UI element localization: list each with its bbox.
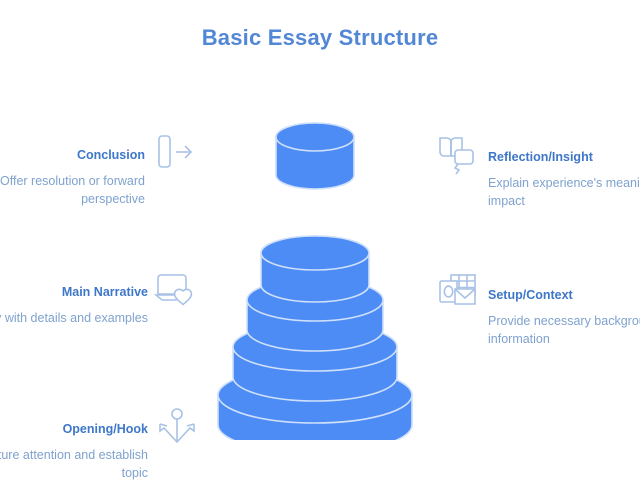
item-heading: Opening/Hook	[0, 422, 148, 437]
item-heading: Setup/Context	[488, 288, 640, 303]
item-heading: Reflection/Insight	[488, 150, 640, 165]
item-heading: Main Narrative	[0, 285, 148, 300]
item-description: Capture attention and establish topic	[0, 446, 148, 482]
outlook-mail-calendar-icon	[436, 270, 482, 316]
tiered-cake-diagram	[190, 95, 440, 440]
laptop-heart-icon	[154, 267, 200, 313]
item-description: Tell story with details and examples	[0, 309, 148, 327]
item-reflection-insight[interactable]: Reflection/Insight Explain experience's …	[488, 150, 640, 210]
item-description: Explain experience's meaning and impact	[488, 174, 640, 210]
item-setup-context[interactable]: Setup/Context Provide necessary backgrou…	[488, 288, 640, 348]
infographic-canvas: Basic Essay Structure	[0, 0, 640, 500]
exit-arrow-icon	[151, 130, 197, 176]
item-conclusion[interactable]: Conclusion Offer resolution or forward p…	[0, 148, 145, 208]
page-title: Basic Essay Structure	[0, 25, 640, 51]
item-heading: Conclusion	[0, 148, 145, 163]
anchor-icon	[154, 404, 200, 450]
item-description: Offer resolution or forward perspective	[0, 172, 145, 208]
item-description: Provide necessary background information	[488, 312, 640, 348]
open-book-speech-bubble-icon	[436, 132, 482, 178]
item-opening-hook[interactable]: Opening/Hook Capture attention and estab…	[0, 422, 148, 482]
item-main-narrative[interactable]: Main Narrative Tell story with details a…	[0, 285, 148, 327]
